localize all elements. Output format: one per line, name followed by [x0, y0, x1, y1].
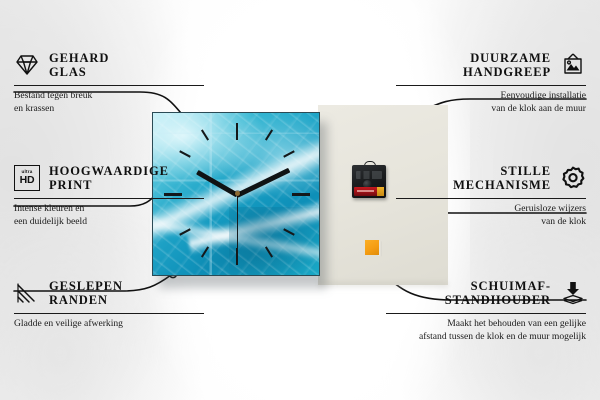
feature-hoogwaardige-print: ultra HD HOOGWAARDIGE PRINT Intense kleu…: [14, 163, 204, 228]
feature-divider: [396, 85, 586, 86]
feature-geslepen-randen: GESLEPEN RANDEN Gladde en veilige afwerk…: [14, 278, 204, 331]
battery-label-stripe: [357, 190, 374, 192]
feature-gehard-glas: GEHARD GLAS Bestand tegen breuk en krass…: [14, 50, 204, 115]
clock-tick-3: [292, 193, 310, 196]
feature-description: Geruisloze wijzers van de klok: [396, 203, 586, 228]
infographic-canvas: GEHARD GLAS Bestand tegen breuk en krass…: [0, 0, 600, 400]
feature-title: GEHARD GLAS: [49, 51, 109, 80]
movement-embossed-text: [356, 171, 382, 179]
feature-divider: [386, 313, 586, 314]
clock-second-hand: [237, 193, 239, 255]
feature-title: GESLEPEN RANDEN: [49, 279, 123, 308]
foam-standoff-icon: [560, 280, 586, 306]
movement-body: [352, 165, 386, 198]
feature-description: Intense kleuren en een duidelijk beeld: [14, 203, 204, 228]
diamond-icon: [14, 52, 40, 78]
gear-icon: [560, 165, 586, 191]
foam-spacer-face: [365, 240, 379, 255]
feature-header: STILLE MECHANISME: [396, 163, 586, 193]
feature-header: GESLEPEN RANDEN: [14, 278, 204, 308]
feature-title: SCHUIMAF- STANDHOUDER: [445, 279, 551, 308]
feature-stille-mechanisme: STILLE MECHANISME Geruisloze wijzers van…: [396, 163, 586, 228]
ultra-hd-icon-big-label: HD: [20, 175, 35, 186]
foam-spacer-pad: [365, 240, 382, 257]
feature-divider: [396, 198, 586, 199]
feature-description: Maakt het behouden van een gelijke afsta…: [386, 318, 586, 343]
feature-description: Bestand tegen breuk en krassen: [14, 90, 204, 115]
clock-tick-12: [236, 123, 238, 140]
ultra-hd-icon: ultra HD: [14, 165, 40, 191]
clock-center-cap: [235, 191, 240, 196]
feature-description: Gladde en veilige afwerking: [14, 318, 204, 331]
quartz-movement: [352, 165, 386, 198]
feature-divider: [14, 198, 204, 199]
feature-description: Eenvoudige installatie van de klok aan d…: [396, 90, 586, 115]
feature-header: DUURZAME HANDGREEP: [396, 50, 586, 80]
feature-title: STILLE MECHANISME: [453, 164, 551, 193]
feature-schuimafstandhouder: SCHUIMAF- STANDHOUDER Maakt het behouden…: [386, 278, 586, 343]
feature-header: SCHUIMAF- STANDHOUDER: [386, 278, 586, 308]
movement-battery: [354, 187, 384, 196]
feature-divider: [14, 85, 204, 86]
feature-header: ultra HD HOOGWAARDIGE PRINT: [14, 163, 204, 193]
feature-divider: [14, 313, 204, 314]
bevelled-edges-icon: [14, 280, 40, 306]
feature-duurzame-handgreep: DUURZAME HANDGREEP Eenvoudige installati…: [396, 50, 586, 115]
hanging-picture-icon: [560, 52, 586, 78]
feature-header: GEHARD GLAS: [14, 50, 204, 80]
feature-title: DUURZAME HANDGREEP: [463, 51, 551, 80]
feature-title: HOOGWAARDIGE PRINT: [49, 164, 169, 193]
